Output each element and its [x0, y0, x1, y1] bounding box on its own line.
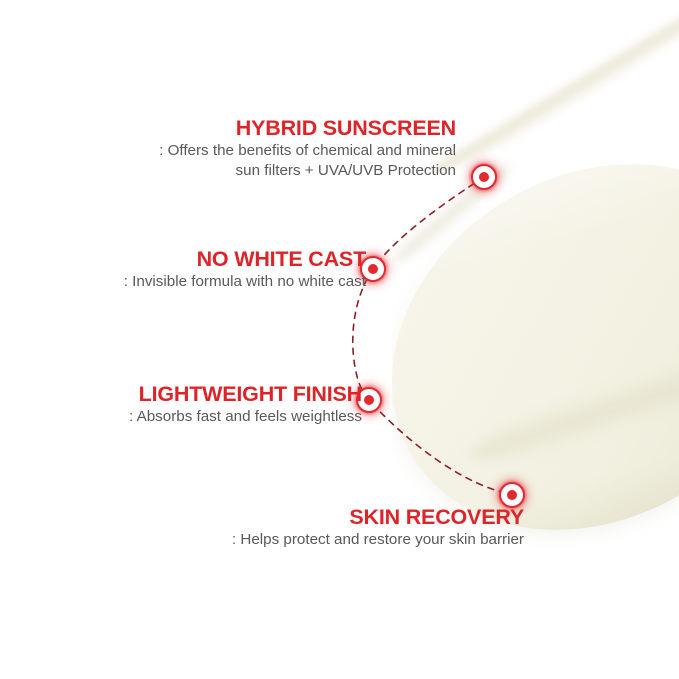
callout-description-no-white-cast: : Invisible formula with no white cast	[96, 272, 366, 292]
callout-description-lightweight-finish: : Absorbs fast and feels weightless	[102, 407, 362, 427]
callout-title-lightweight-finish: LIGHTWEIGHT FINISH	[102, 383, 362, 406]
callout-title-skin-recovery: SKIN RECOVERY	[184, 506, 524, 529]
callout-skin-recovery: SKIN RECOVERY : Helps protect and restor…	[184, 506, 524, 550]
callout-hybrid-sunscreen: HYBRID SUNSCREEN : Offers the benefits o…	[156, 117, 456, 182]
marker-core-icon	[368, 264, 378, 274]
callout-title-hybrid-sunscreen: HYBRID SUNSCREEN	[156, 117, 456, 140]
marker-core-icon	[507, 490, 517, 500]
callout-no-white-cast: NO WHITE CAST : Invisible formula with n…	[96, 248, 366, 292]
callout-description-hybrid-sunscreen: : Offers the benefits of chemical and mi…	[156, 141, 456, 181]
dashed-connector-line	[0, 0, 679, 679]
callout-lightweight-finish: LIGHTWEIGHT FINISH : Absorbs fast and fe…	[102, 383, 362, 427]
marker-core-icon	[479, 172, 489, 182]
infographic-canvas: HYBRID SUNSCREEN : Offers the benefits o…	[0, 0, 679, 679]
marker-core-icon	[364, 395, 374, 405]
marker-hybrid-sunscreen[interactable]	[471, 164, 497, 190]
callout-title-no-white-cast: NO WHITE CAST	[96, 248, 366, 271]
callout-description-skin-recovery: : Helps protect and restore your skin ba…	[184, 530, 524, 550]
